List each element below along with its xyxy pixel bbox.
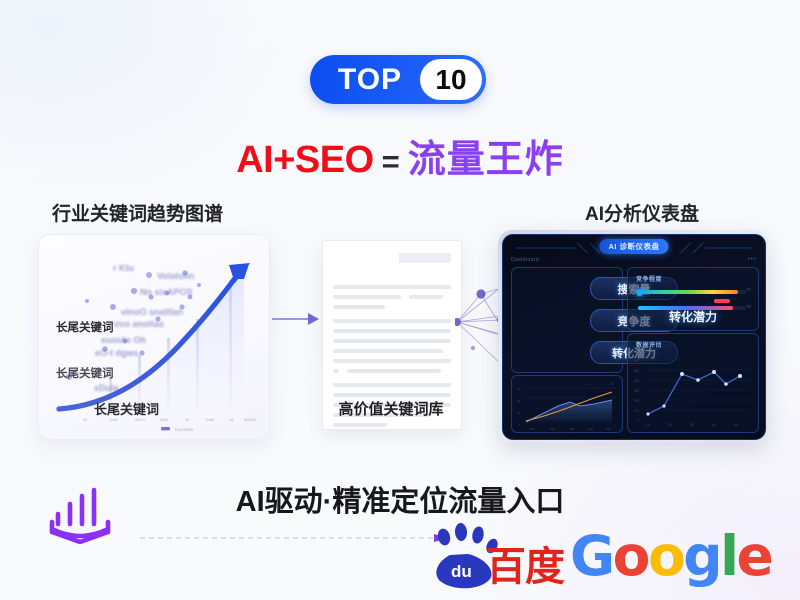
svg-text:1D: 1D bbox=[646, 423, 651, 427]
blur-label-8: r Ktu bbox=[113, 263, 134, 273]
svg-text:200: 200 bbox=[634, 399, 640, 403]
section-label-trend: 行业关键词趋势图谱 bbox=[52, 199, 223, 226]
svg-text:03d: 03d bbox=[570, 427, 575, 431]
svg-text:du: du bbox=[451, 562, 472, 581]
competition-gauge-panel: 竞争程度 转化潜力 H M bbox=[627, 267, 759, 331]
flow-dashed-line bbox=[140, 533, 455, 543]
panel-title-evaluation: 数据评估 bbox=[636, 340, 662, 349]
data-evaluation-panel: 数据评估 800600 bbox=[627, 333, 759, 433]
top-badge-number: 10 bbox=[420, 59, 482, 100]
svg-text:3024N: 3024N bbox=[244, 417, 256, 422]
google-letter-l: l bbox=[720, 524, 736, 588]
google-letter-o2: o bbox=[648, 524, 683, 588]
google-letter-e: e bbox=[736, 524, 771, 588]
doc-header-chip bbox=[399, 253, 451, 263]
dashboard-mini-title: Dashboard bbox=[511, 257, 539, 263]
svg-text:05d: 05d bbox=[606, 427, 611, 431]
section-label-dashboard: AI分析仪表盘 bbox=[585, 199, 699, 226]
google-letter-g: g bbox=[683, 524, 720, 588]
svg-text:5D: 5D bbox=[734, 423, 739, 427]
flow-arrow-icon bbox=[272, 310, 320, 328]
ai-dashboard-screen: AI 诊断仪表盘 Dashboard ••• 搜索量 竞争度 转化潜力 bbox=[502, 234, 766, 440]
svg-text:04d: 04d bbox=[588, 427, 593, 431]
svg-text:0: 0 bbox=[637, 419, 639, 423]
blur-label-2: No sisAPOS bbox=[140, 287, 193, 297]
svg-text:100: 100 bbox=[634, 409, 640, 413]
svg-text:02d: 02d bbox=[550, 427, 555, 431]
svg-text:400: 400 bbox=[634, 379, 640, 383]
svg-text:40: 40 bbox=[517, 387, 521, 391]
svg-text:01d: 01d bbox=[530, 427, 535, 431]
google-letter-o1: o bbox=[613, 524, 648, 588]
svg-text:3D: 3D bbox=[690, 423, 695, 427]
dashboard-menu-icon[interactable]: ••• bbox=[748, 257, 757, 263]
svg-text:—— B: —— B bbox=[604, 382, 613, 386]
blur-label-7: xDula bbox=[94, 383, 119, 393]
bar-chart-pedestal-icon bbox=[44, 484, 116, 550]
blur-label-6: eO-t dgws bbox=[95, 348, 139, 358]
google-logo: Google bbox=[570, 524, 771, 588]
keyword-label-2: 长尾关键词 bbox=[56, 365, 114, 381]
blur-label-5: euouto Oh bbox=[101, 335, 146, 345]
dashboard-title-badge: AI 诊断仪表盘 bbox=[599, 239, 668, 254]
keyword-label-3: 长尾关键词 bbox=[94, 399, 159, 418]
svg-text:300: 300 bbox=[634, 389, 640, 393]
svg-text:—— A: —— A bbox=[584, 382, 593, 386]
panel-title-competition: 竞争程度 bbox=[636, 274, 662, 283]
svg-text:7o56: 7o56 bbox=[205, 417, 215, 422]
keyword-label-1: 长尾关键词 bbox=[56, 319, 114, 335]
top-rank-badge: TOP 10 bbox=[310, 55, 486, 104]
title-part-ai-seo: AI+SEO bbox=[236, 139, 373, 181]
google-letter-G: G bbox=[570, 524, 613, 588]
svg-text:4D: 4D bbox=[712, 423, 717, 427]
baidu-wordmark: 百度 bbox=[486, 534, 564, 592]
svg-text:n8: n8 bbox=[229, 417, 234, 422]
svg-text:800: 800 bbox=[634, 359, 640, 363]
svg-text:Keywords: Keywords bbox=[175, 427, 193, 432]
footer-tagline: AI驱动·精准定位流量入口 bbox=[0, 478, 800, 520]
blur-label-1: Volatolin bbox=[157, 271, 194, 281]
svg-text:40: 40 bbox=[83, 417, 88, 422]
svg-text:30: 30 bbox=[517, 399, 521, 403]
svg-text:1664: 1664 bbox=[159, 417, 169, 422]
blur-label-3: vinoO snaitlan bbox=[121, 307, 183, 317]
area-chart-svg: 4030 200 01d02d 03d04d 05d —— A—— B bbox=[512, 376, 622, 432]
svg-text:600: 600 bbox=[634, 369, 640, 373]
infographic-canvas: TOP 10 AI+SEO=流量王炸 行业关键词趋势图谱 AI分析仪表盘 bbox=[0, 0, 800, 600]
overlay-conversion-potential: 转化潜力 bbox=[628, 308, 758, 325]
area-chart-panel: 4030 200 01d02d 03d04d 05d —— A—— B bbox=[511, 375, 623, 433]
page-title: AI+SEO=流量王炸 bbox=[0, 128, 800, 183]
svg-text:20: 20 bbox=[517, 411, 521, 415]
document-caption: 高价值关键词库 bbox=[322, 398, 460, 419]
svg-text:2D: 2D bbox=[668, 423, 673, 427]
ai-dashboard-frame: AI 诊断仪表盘 Dashboard ••• 搜索量 竞争度 转化潜力 bbox=[498, 230, 768, 442]
title-equals-sign: = bbox=[382, 144, 400, 179]
trend-chart-card: 401140 2DLC1664 407o56 n83024N Keywords … bbox=[38, 234, 270, 440]
blur-label-4: ovo anotlas bbox=[114, 319, 164, 329]
top-badge-label: TOP bbox=[310, 63, 420, 97]
title-part-traffic: 流量王炸 bbox=[408, 139, 564, 181]
svg-text:0: 0 bbox=[518, 422, 520, 426]
svg-text:40: 40 bbox=[185, 417, 190, 422]
